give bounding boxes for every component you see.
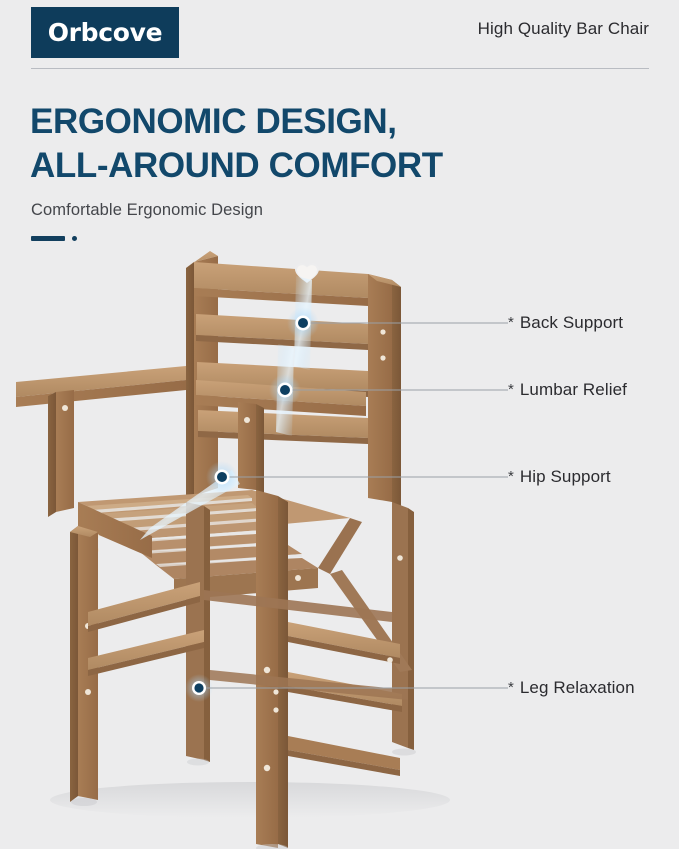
page-subtitle: Comfortable Ergonomic Design — [31, 201, 263, 220]
infographic-page: Orbcove High Quality Bar Chair ERGONOMIC… — [0, 0, 679, 849]
callout-bullet-icon: * — [508, 469, 514, 484]
callout-label: Hip Support — [520, 467, 611, 487]
floor-shadow — [50, 782, 450, 818]
header-product-title: High Quality Bar Chair — [478, 19, 649, 39]
page-title-line-1: ERGONOMIC DESIGN, — [30, 100, 650, 144]
callout-lumbar-relief: * Lumbar Relief — [508, 379, 627, 401]
brand-logo-text: Orbcove — [48, 18, 163, 47]
chair-drawing — [16, 251, 416, 849]
callout-hip-support: * Hip Support — [508, 466, 611, 488]
page-title-line-2: ALL-AROUND COMFORT — [30, 144, 650, 188]
header: Orbcove High Quality Bar Chair — [0, 0, 679, 72]
page-title: ERGONOMIC DESIGN, ALL-AROUND COMFORT — [30, 100, 650, 188]
callout-leg-relaxation: * Leg Relaxation — [508, 677, 635, 699]
brand-logo: Orbcove — [31, 7, 179, 58]
callout-label: Back Support — [520, 313, 623, 333]
callout-bullet-icon: * — [508, 680, 514, 695]
callout-bullet-icon: * — [508, 382, 514, 397]
callout-label: Leg Relaxation — [520, 678, 635, 698]
header-divider — [31, 68, 649, 69]
callout-bullet-icon: * — [508, 315, 514, 330]
callout-label: Lumbar Relief — [520, 380, 627, 400]
callout-back-support: * Back Support — [508, 312, 623, 334]
